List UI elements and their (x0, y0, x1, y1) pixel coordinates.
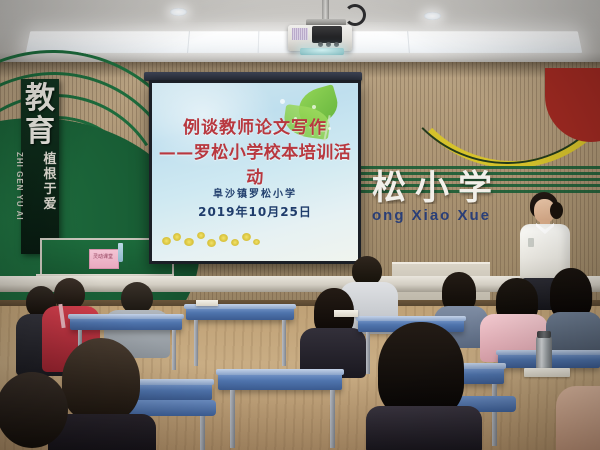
notebook (196, 300, 218, 306)
projector-cable-bundle (312, 26, 342, 43)
projector-lens-glow (300, 48, 344, 55)
notebook (334, 310, 358, 317)
slide-subtitle: ——罗松小学校本培训活动 (152, 138, 358, 188)
projector-cable-coil (344, 4, 366, 26)
audience-torso (556, 386, 600, 450)
slide-date: 2019年10月25日 (152, 203, 358, 220)
banner-subtext: 植根于爱 (40, 152, 60, 212)
ceiling-downlight-left (170, 8, 187, 16)
desk-leg (492, 384, 497, 446)
slide-flower-decoration (160, 227, 264, 253)
presenter-hair-bun (550, 202, 563, 219)
audience-member (556, 386, 600, 450)
desk-leg (172, 330, 176, 370)
water-bottle (118, 243, 123, 262)
thermos-flask (536, 336, 552, 372)
banner-headline: 教育 (22, 82, 58, 148)
desk-leg (282, 320, 286, 366)
desk-leg (330, 390, 335, 448)
projection-screen: 例谈教师论文写作 ——罗松小学校本培训活动 阜沙镇罗松小学 2019年10月25… (152, 83, 358, 261)
classroom-photo-scene: 松小学 ong Xiao Xue 教育 植根于爱 ZHI GEN YU AI 灵… (0, 0, 600, 450)
audience-hair (378, 322, 464, 418)
blackboard-sign-text: 灵动课堂 (90, 253, 116, 260)
slide-organization: 阜沙镇罗松小学 (152, 185, 358, 200)
student-desk-edge (356, 316, 466, 321)
projector-vent-grille (292, 28, 308, 40)
projection-screen-frame: 例谈教师论文写作 ——罗松小学校本培训活动 阜沙镇罗松小学 2019年10月25… (149, 80, 361, 264)
slide-title: 例谈教师论文写作 (152, 113, 358, 138)
notebook (524, 368, 570, 377)
student-desk-edge (68, 314, 184, 319)
desk-leg (230, 390, 235, 448)
student-desk-edge (216, 369, 344, 375)
desk-leg (194, 320, 198, 366)
presenter-badge (528, 238, 534, 247)
audience-member (366, 322, 482, 450)
audience-torso (366, 406, 482, 450)
audience-member (546, 268, 600, 354)
thermos-cap (537, 331, 551, 338)
audience-head (0, 372, 68, 448)
banner-pinyin: ZHI GEN YU AI (15, 152, 24, 221)
audience-member (0, 372, 86, 450)
